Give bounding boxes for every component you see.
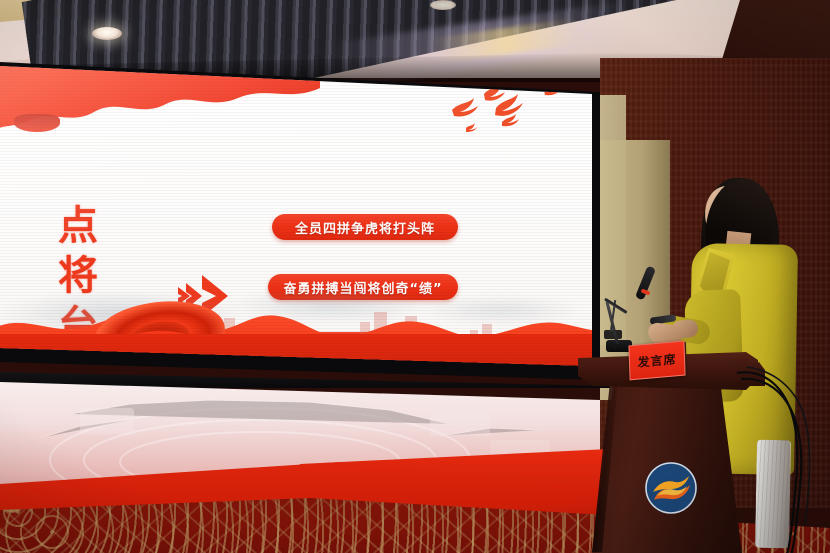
banner-slogan-1: 全员四拼争虎将打头阵 <box>272 214 458 240</box>
company-swoosh-logo <box>645 462 697 514</box>
led-screen-display: 点 将 台 全员四拼争虎将打头阵 奋勇拼搏当闯将创奇“绩” 多点发力做名将谋发展 <box>0 66 592 374</box>
title-char-1: 点 <box>58 201 99 251</box>
recessed-downlight-icon <box>92 27 122 40</box>
podium-speaker-sign-text: 发言席 <box>637 350 677 370</box>
red-ribbon-fold <box>14 114 60 132</box>
swoosh-logo-glyph <box>645 462 697 514</box>
podium-speaker-sign: 发言席 <box>628 341 685 381</box>
audio-cable <box>735 365 830 553</box>
conference-photo-scene: 点 将 台 全员四拼争虎将打头阵 奋勇拼搏当闯将创奇“绩” 多点发力做名将谋发展 <box>0 0 830 553</box>
recessed-downlight-secondary-icon <box>430 0 456 10</box>
banner-slogan-1-text: 全员四拼争虎将打头阵 <box>295 218 435 237</box>
flying-birds-icon <box>440 74 590 134</box>
